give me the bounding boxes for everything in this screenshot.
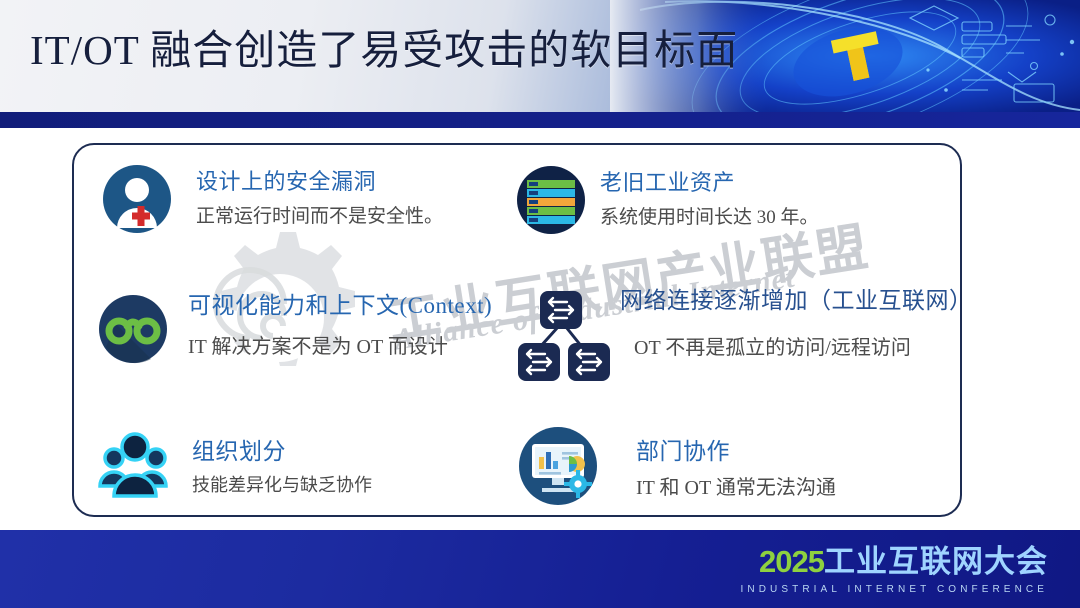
list-item-title: 网络连接逐渐增加（工业互联网） <box>620 281 973 315</box>
list-item-subtitle: 系统使用时间长达 30 年。 <box>600 202 819 229</box>
network-switches-icon <box>516 285 616 385</box>
list-item-subtitle: IT 和 OT 通常无法沟通 <box>636 471 836 500</box>
list-item-text: 设计上的安全漏洞 正常运行时间而不是安全性。 <box>196 164 443 228</box>
conference-logo-main: 2025工业互联网大会 <box>741 546 1048 577</box>
binoculars-icon <box>96 292 170 366</box>
list-item-text: 可视化能力和上下文(Context) IT 解决方案不是为 OT 而设计 <box>188 286 492 359</box>
conference-logo: 2025工业互联网大会 INDUSTRIAL INTERNET CONFEREN… <box>741 546 1048 595</box>
slide-header: IT/OT 融合创造了易受攻击的软目标面 <box>0 0 1080 112</box>
conference-year: 2025 <box>759 544 824 579</box>
list-item-title: 可视化能力和上下文(Context) <box>188 286 492 320</box>
list-item-text: 组织划分 技能差异化与缺乏协作 <box>192 432 372 497</box>
conference-name-en: INDUSTRIAL INTERNET CONFERENCE <box>741 584 1048 595</box>
list-item-title: 部门协作 <box>636 432 836 466</box>
list-item-subtitle: 技能差异化与缺乏协作 <box>192 471 372 497</box>
list-item-text: 老旧工业资产 系统使用时间长达 30 年。 <box>600 165 819 229</box>
header-accent-bar <box>0 112 1080 128</box>
person-medical-icon <box>100 162 174 236</box>
conference-name-cn: 工业互联网大会 <box>824 544 1048 579</box>
list-item-title: 老旧工业资产 <box>600 165 819 197</box>
list-item-subtitle: 正常运行时间而不是安全性。 <box>196 201 443 228</box>
server-rack-icon <box>514 163 588 237</box>
list-item-title: 组织划分 <box>192 432 372 466</box>
list-item-subtitle: IT 解决方案不是为 OT 而设计 <box>188 330 492 359</box>
slide-root: IT/OT 融合创造了易受攻击的软目标面 工业互联网产业联盟 Alliance … <box>0 0 1080 608</box>
dashboard-gear-icon <box>516 424 600 508</box>
people-group-icon <box>92 424 178 502</box>
page-title: IT/OT 融合创造了易受攻击的软目标面 <box>30 16 738 76</box>
list-item-subtitle: OT 不再是孤立的访问/远程访问 <box>634 331 973 360</box>
slide-footer: 2025工业互联网大会 INDUSTRIAL INTERNET CONFEREN… <box>0 530 1080 608</box>
list-item-text: 网络连接逐渐增加（工业互联网） OT 不再是孤立的访问/远程访问 <box>620 281 973 360</box>
list-item-title: 设计上的安全漏洞 <box>196 164 443 196</box>
list-item-text: 部门协作 IT 和 OT 通常无法沟通 <box>636 432 836 500</box>
